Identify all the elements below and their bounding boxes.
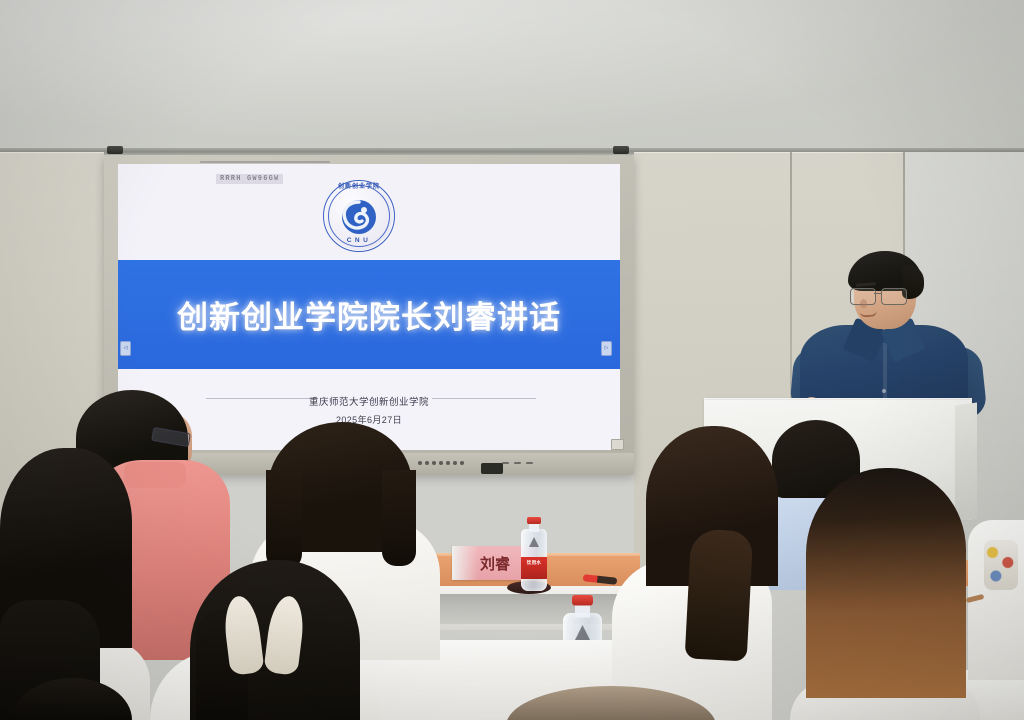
display-button-row[interactable] <box>418 461 464 465</box>
display-screen: 创新创业学院 CNU RRRH GW96GW 创新创业学院院长刘睿讲话 重庆师范… <box>118 164 620 450</box>
rail-clip <box>107 146 123 154</box>
display-button[interactable] <box>425 461 429 465</box>
ir-sensor-icon <box>481 463 503 474</box>
display-button[interactable] <box>432 461 436 465</box>
display-button[interactable] <box>460 461 464 465</box>
name-card-occlusion <box>452 546 478 580</box>
slide-title: 创新创业学院院长刘睿讲话 <box>118 260 620 369</box>
speaker-shirt-placket <box>883 343 887 405</box>
cnu-university-emblem-icon: 创新创业学院 CNU <box>323 180 395 252</box>
slide-subtitle-org: 重庆师范大学创新创业学院 <box>309 394 429 408</box>
slide-subtitle-date: 2025年6月27日 <box>118 413 620 426</box>
photo-screenshot: 创新创业学院 CNU RRRH GW96GW 创新创业学院院长刘睿讲话 重庆师范… <box>0 0 1024 720</box>
display-mark <box>526 462 533 464</box>
display-side-key-right[interactable]: ▷ <box>601 341 612 356</box>
speaker-figure <box>790 247 980 417</box>
emblem-glyph-icon <box>338 197 380 237</box>
display-button[interactable] <box>439 461 443 465</box>
bottle-cap <box>572 595 593 606</box>
slide-subtitle-block: 重庆师范大学创新创业学院 2025年6月27日 <box>118 392 620 426</box>
speaker-nose <box>860 299 867 308</box>
presentation-slide: 创新创业学院 CNU RRRH GW96GW 创新创业学院院长刘睿讲话 重庆师范… <box>118 164 620 450</box>
bottle-cap <box>527 517 541 524</box>
patterned-item <box>984 540 1018 590</box>
bottle-label: 饮用水 <box>521 557 547 579</box>
display-top-hairline <box>200 161 330 163</box>
speaker-shirt-button <box>882 389 886 393</box>
display-button[interactable] <box>446 461 450 465</box>
display-mark <box>514 462 521 464</box>
emblem-initials: CNU <box>324 237 394 244</box>
emblem-arc-text: 创新创业学院 <box>324 181 394 191</box>
display-button[interactable] <box>418 461 422 465</box>
display-side-key-left[interactable]: ◁ <box>120 341 131 356</box>
podium-side-panel <box>955 402 977 521</box>
wall-upper <box>0 0 1024 152</box>
hair-accessory <box>226 596 302 678</box>
display-mark <box>502 462 509 464</box>
display-button[interactable] <box>453 461 457 465</box>
audience-collar <box>124 462 186 488</box>
display-slider-marks[interactable] <box>502 462 533 464</box>
slide-watermark: RRRH GW96GW <box>216 174 283 184</box>
rail-clip <box>613 146 629 154</box>
display-status-led <box>611 439 624 450</box>
